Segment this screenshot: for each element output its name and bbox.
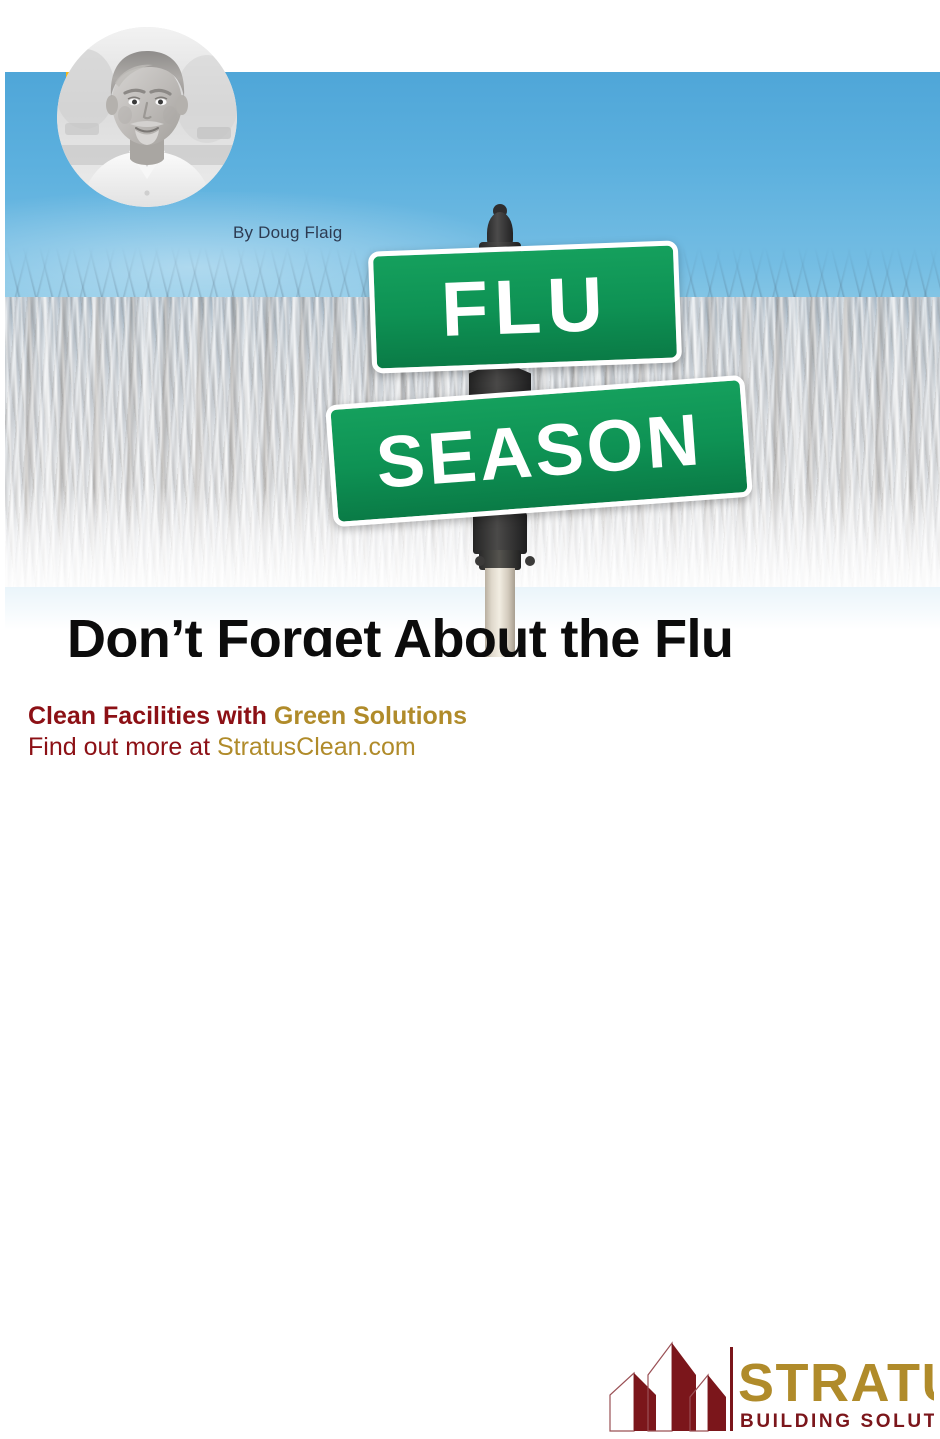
avatar xyxy=(57,27,237,207)
pole-bolt-left xyxy=(475,556,485,566)
building-icon xyxy=(610,1343,726,1431)
footer-tagline: Clean Facilities with Green Solutions xyxy=(28,704,467,729)
footer-findout: Find out more at StratusClean.com xyxy=(28,735,416,760)
byline: By Doug Flaig xyxy=(233,223,342,243)
sign-hub-lower xyxy=(473,510,527,554)
footer-website-link[interactable]: StratusClean.com xyxy=(217,733,416,761)
street-sign-flu-label: FLU xyxy=(440,265,610,348)
page-title: Don’t Forget About the Flu xyxy=(67,612,733,657)
footer: Clean Facilities with Green Solutions Fi… xyxy=(0,657,940,788)
footer-tagline-part2: Green Solutions xyxy=(274,702,467,730)
pole-bolt-right xyxy=(525,556,535,566)
logo-subtext-text: BUILDING SOLUTIONS xyxy=(740,1411,934,1432)
finial-top xyxy=(487,212,513,246)
street-sign-season-label: SEASON xyxy=(374,403,705,500)
footer-tagline-part1: Clean Facilities with xyxy=(28,702,274,730)
street-sign-flu: FLU xyxy=(368,240,682,373)
flu-season-banner: FLU SEASON By Doug Flaig Don’t Forget Ab… xyxy=(0,0,940,788)
pole-collar xyxy=(479,550,521,570)
footer-findout-part1: Find out more at xyxy=(28,733,217,761)
stratus-logo: STRATUS BUILDING SOLUTIONS xyxy=(604,1339,934,1439)
logo-wordmark-text: STRATUS xyxy=(738,1353,934,1413)
